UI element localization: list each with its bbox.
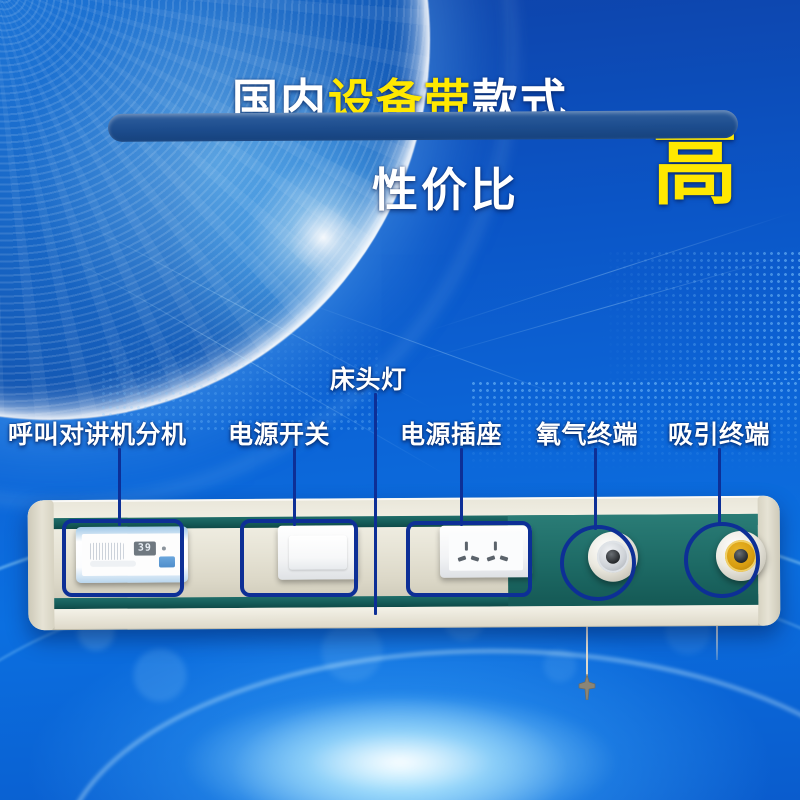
leader-line-nurse-call-intercom <box>118 448 121 526</box>
callout-label-nurse-call-intercom: 呼叫对讲机分机 <box>8 415 187 451</box>
leader-line-oxygen-terminal <box>594 448 597 530</box>
highlight-box-switch <box>240 519 358 597</box>
callout-label-oxygen-terminal: 氧气终端 <box>536 415 638 451</box>
highlight-circle-suction <box>684 522 760 598</box>
callout-label-power-socket: 电源插座 <box>400 415 502 451</box>
leader-line-bed-head-lamp <box>374 393 377 615</box>
highlight-box-socket <box>406 521 532 597</box>
promo-banner: 国内设备带款式 性价比 高 39 <box>0 0 800 800</box>
leader-line-power-switch <box>293 448 296 526</box>
callout-label-bed-head-lamp: 床头灯 <box>330 360 407 396</box>
leader-line-suction-terminal <box>718 448 721 526</box>
callout-label-suction-terminal: 吸引终端 <box>668 415 770 451</box>
highlight-circle-oxygen <box>560 525 636 601</box>
leader-line-power-socket <box>460 448 463 526</box>
panel-gloss-strip <box>108 110 738 142</box>
highlight-box-intercom <box>62 519 184 597</box>
callout-label-power-switch: 电源开关 <box>228 415 330 451</box>
